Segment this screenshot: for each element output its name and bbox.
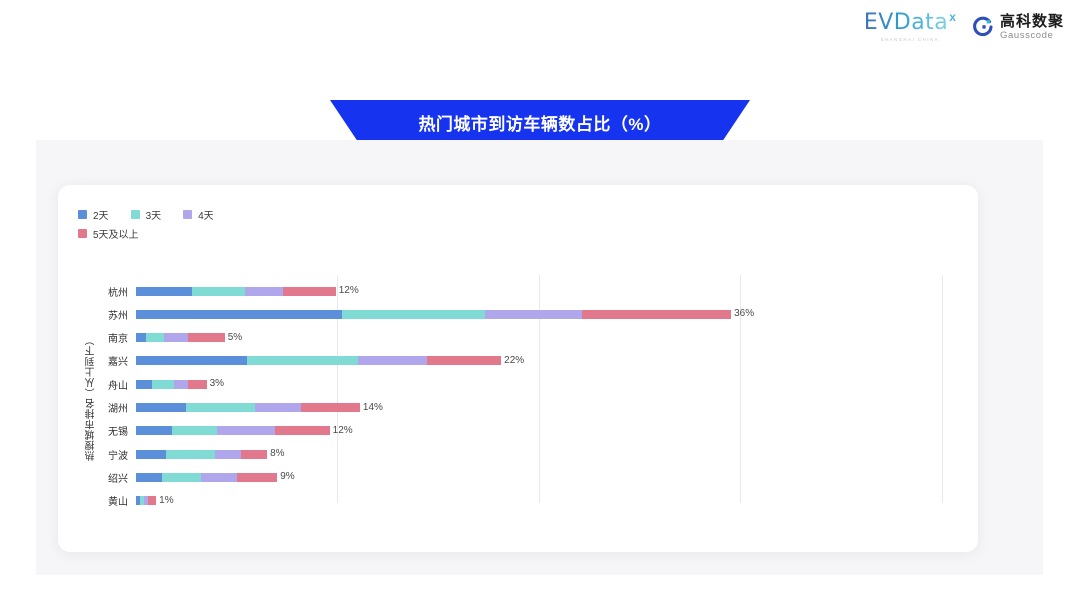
bar-area: 12% <box>136 420 978 442</box>
bar-segment[interactable] <box>148 496 156 505</box>
bar-value-label: 22% <box>504 356 524 366</box>
legend-label: 3天 <box>146 207 162 222</box>
evdata-logo-main: EVData x <box>864 12 956 34</box>
bar-segment[interactable] <box>188 380 206 389</box>
bar-segment[interactable] <box>164 333 188 342</box>
bar-value-label: 12% <box>339 286 359 296</box>
stacked-bar[interactable] <box>136 287 336 296</box>
stacked-bar[interactable] <box>136 426 330 435</box>
bar-area: 22% <box>136 350 978 372</box>
chart-row: 嘉兴22% <box>58 350 978 372</box>
y-axis-tick-label: 黄山 <box>58 493 136 508</box>
bar-segment[interactable] <box>237 473 277 482</box>
bar-segment[interactable] <box>146 333 164 342</box>
y-axis-tick-label: 绍兴 <box>58 470 136 485</box>
bar-value-label: 12% <box>333 426 353 436</box>
chart-card: 2天 3天 4天 5天及以上 热搜城市排名（从上到下） 杭州12%苏州36%南京… <box>58 185 978 552</box>
bar-area: 12% <box>136 280 978 302</box>
chart-row: 南京5% <box>58 327 978 349</box>
bar-segment[interactable] <box>166 450 214 459</box>
bar-segment[interactable] <box>283 287 335 296</box>
legend-item-3天[interactable]: 3天 <box>131 207 162 222</box>
gausscode-logo-text: 高科数聚 Gausscode <box>1000 14 1064 41</box>
page-header: EVData x shanghai china 高科数聚 Gausscode <box>0 0 1080 58</box>
bar-segment[interactable] <box>215 450 241 459</box>
evdata-logo-subtitle: shanghai china <box>881 37 939 42</box>
chart-row: 湖州14% <box>58 397 978 419</box>
chart-legend: 2天 3天 4天 5天及以上 <box>78 207 458 245</box>
bar-segment[interactable] <box>241 450 267 459</box>
bar-area: 36% <box>136 303 978 325</box>
bar-segment[interactable] <box>427 356 502 365</box>
stacked-bar[interactable] <box>136 333 225 342</box>
bar-segment[interactable] <box>136 356 247 365</box>
legend-item-5天及以上[interactable]: 5天及以上 <box>78 226 139 241</box>
bar-area: 9% <box>136 466 978 488</box>
chart-row: 苏州36% <box>58 303 978 325</box>
bar-segment[interactable] <box>245 287 283 296</box>
legend-item-4天[interactable]: 4天 <box>183 207 214 222</box>
bar-segment[interactable] <box>186 403 255 412</box>
legend-swatch-icon <box>183 210 192 219</box>
page-title: 热门城市到访车辆数占比（%） <box>418 110 661 135</box>
bar-segment[interactable] <box>192 287 244 296</box>
bar-segment[interactable] <box>582 310 731 319</box>
stacked-bar[interactable] <box>136 496 156 505</box>
title-banner: 热门城市到访车辆数占比（%） <box>330 100 750 144</box>
bar-area: 8% <box>136 443 978 465</box>
bar-segment[interactable] <box>172 426 216 435</box>
legend-item-2天[interactable]: 2天 <box>78 207 109 222</box>
bar-value-label: 9% <box>280 472 294 482</box>
bar-value-label: 36% <box>734 309 754 319</box>
y-axis-tick-label: 舟山 <box>58 377 136 392</box>
chart-plot-area: 热搜城市排名（从上到下） 杭州12%苏州36%南京5%嘉兴22%舟山3%湖州14… <box>58 280 978 515</box>
evdata-logo-superscript-icon: x <box>949 10 956 24</box>
chart-row: 绍兴9% <box>58 466 978 488</box>
chart-row: 舟山3% <box>58 373 978 395</box>
y-axis-tick-label: 湖州 <box>58 400 136 415</box>
stacked-bar[interactable] <box>136 356 501 365</box>
gausscode-logo-cn: 高科数聚 <box>1000 14 1064 29</box>
evdata-logo: EVData x shanghai china <box>864 12 956 42</box>
logo-group: EVData x shanghai china 高科数聚 Gausscode <box>864 12 1064 42</box>
bar-segment[interactable] <box>152 380 174 389</box>
bar-segment[interactable] <box>342 310 485 319</box>
y-axis-tick-label: 杭州 <box>58 284 136 299</box>
bar-segment[interactable] <box>136 380 152 389</box>
legend-swatch-icon <box>78 229 87 238</box>
bar-segment[interactable] <box>255 403 301 412</box>
legend-label: 4天 <box>198 207 214 222</box>
y-axis-tick-label: 苏州 <box>58 307 136 322</box>
bar-segment[interactable] <box>174 380 188 389</box>
legend-row-1: 2天 3天 4天 <box>78 207 458 222</box>
bar-area: 14% <box>136 397 978 419</box>
bar-area: 3% <box>136 373 978 395</box>
stacked-bar[interactable] <box>136 310 731 319</box>
bar-segment[interactable] <box>485 310 582 319</box>
chart-row: 宁波8% <box>58 443 978 465</box>
bar-area: 1% <box>136 490 978 512</box>
evdata-logo-wordmark: EVData <box>864 12 948 34</box>
chart-bar-rows: 杭州12%苏州36%南京5%嘉兴22%舟山3%湖州14%无锡12%宁波8%绍兴9… <box>58 280 978 515</box>
stacked-bar[interactable] <box>136 380 207 389</box>
stacked-bar[interactable] <box>136 403 360 412</box>
y-axis-tick-label: 无锡 <box>58 423 136 438</box>
bar-segment[interactable] <box>162 473 200 482</box>
legend-label: 5天及以上 <box>93 226 139 241</box>
bar-segment[interactable] <box>136 333 146 342</box>
legend-swatch-icon <box>78 210 87 219</box>
bar-value-label: 14% <box>363 403 383 413</box>
title-banner-wrap: 热门城市到访车辆数占比（%） <box>0 100 1080 144</box>
bar-segment[interactable] <box>201 473 237 482</box>
legend-label: 2天 <box>93 207 109 222</box>
bar-segment[interactable] <box>188 333 224 342</box>
stacked-bar[interactable] <box>136 473 277 482</box>
chart-row: 黄山1% <box>58 490 978 512</box>
bar-value-label: 3% <box>210 379 224 389</box>
chart-row: 无锡12% <box>58 420 978 442</box>
gausscode-mark-icon <box>972 16 994 38</box>
bar-value-label: 8% <box>270 449 284 459</box>
bar-segment[interactable] <box>247 356 358 365</box>
bar-value-label: 5% <box>228 333 242 343</box>
bar-segment[interactable] <box>217 426 276 435</box>
y-axis-tick-label: 南京 <box>58 330 136 345</box>
bar-segment[interactable] <box>136 310 342 319</box>
bar-area: 5% <box>136 327 978 349</box>
legend-swatch-icon <box>131 210 140 219</box>
bar-segment[interactable] <box>136 426 172 435</box>
bar-segment[interactable] <box>136 287 192 296</box>
y-axis-tick-label: 宁波 <box>58 447 136 462</box>
bar-segment[interactable] <box>275 426 329 435</box>
stacked-bar[interactable] <box>136 450 267 459</box>
bar-segment[interactable] <box>358 356 427 365</box>
gausscode-logo-en: Gausscode <box>1000 31 1064 41</box>
bar-segment[interactable] <box>136 403 186 412</box>
y-axis-tick-label: 嘉兴 <box>58 353 136 368</box>
legend-row-2: 5天及以上 <box>78 226 458 241</box>
bar-segment[interactable] <box>301 403 360 412</box>
gausscode-logo: 高科数聚 Gausscode <box>972 14 1064 41</box>
bar-segment[interactable] <box>136 450 166 459</box>
bar-value-label: 1% <box>159 496 173 506</box>
chart-row: 杭州12% <box>58 280 978 302</box>
bar-segment[interactable] <box>136 473 162 482</box>
